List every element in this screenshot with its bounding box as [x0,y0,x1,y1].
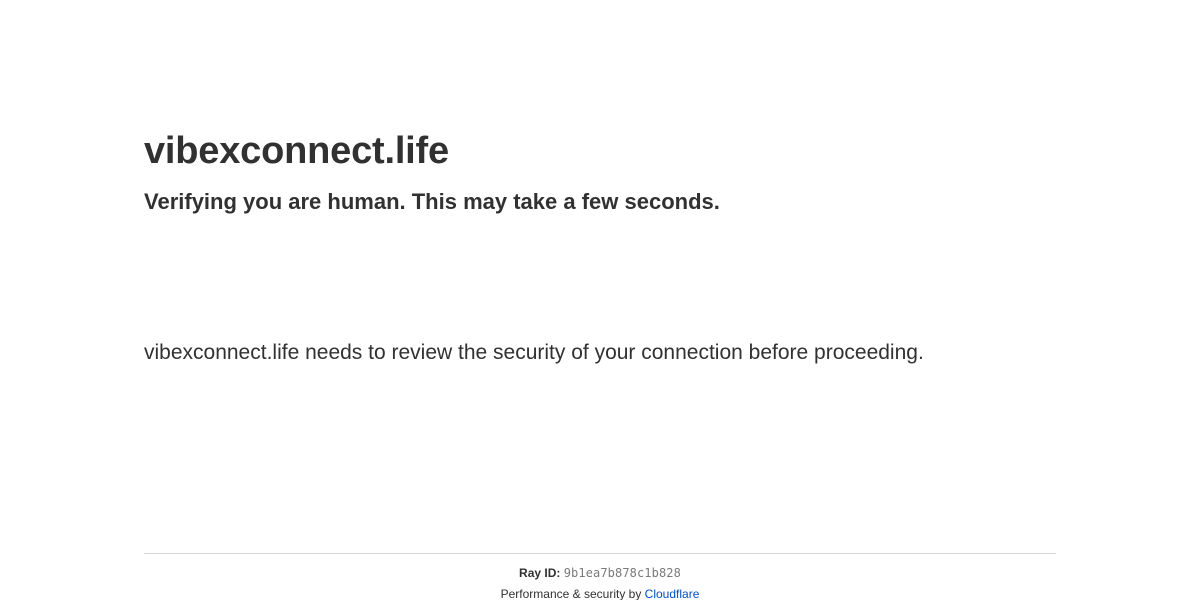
footer-credit: Performance & security by Cloudflare [144,580,1056,600]
cloudflare-link[interactable]: Cloudflare [645,587,700,600]
ray-id-line: Ray ID: 9b1ea7b878c1b828 [144,566,1056,580]
challenge-page: vibexconnect.life Verifying you are huma… [0,0,1200,600]
challenge-content: vibexconnect.life Verifying you are huma… [144,0,1056,371]
footer-inner: Ray ID: 9b1ea7b878c1b828 Performance & s… [144,554,1056,600]
footer-credit-prefix: Performance & security by [501,587,642,600]
verification-widget[interactable] [144,246,444,311]
page-title: vibexconnect.life [144,131,1056,173]
challenge-description: vibexconnect.life needs to review the se… [144,311,944,371]
footer: Ray ID: 9b1ea7b878c1b828 Performance & s… [144,553,1056,600]
ray-id-value: 9b1ea7b878c1b828 [564,566,681,580]
ray-id-label: Ray ID: [519,566,560,580]
main-content: vibexconnect.life Verifying you are huma… [144,0,1056,371]
verification-status-text: Verifying you are human. This may take a… [144,173,1056,217]
